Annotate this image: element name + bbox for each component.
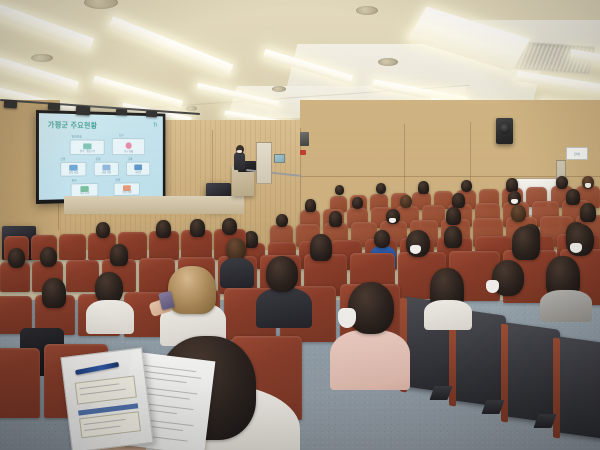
- attendee-head: [348, 282, 394, 334]
- slide-group-label: 일반현황: [72, 134, 82, 138]
- attendee-head: [244, 231, 258, 248]
- auditorium-seat[interactable]: [0, 348, 40, 418]
- lecture-hall-photo: 안내 가평군 주요현황 Ti 일반현황 인구 산업 관광 교통 복지 환경 면적…: [0, 0, 600, 450]
- slide-card: 지역 산업: [60, 162, 86, 177]
- slide-card-icon: [126, 142, 132, 149]
- slide-card: 관광 자원: [94, 162, 119, 177]
- attendee-head: [511, 205, 526, 222]
- wall-seam: [300, 176, 600, 177]
- sprinkler-icon: [186, 106, 197, 111]
- seat-edge-trim: [553, 338, 560, 439]
- attendee-head: [446, 207, 461, 225]
- slide-group-label: 환경: [115, 178, 120, 182]
- slide-card-label: 인구 현황: [113, 149, 144, 153]
- slide-card-label: 복지 시설: [72, 191, 98, 195]
- attendee-head: [329, 211, 342, 227]
- fire-box: [300, 132, 309, 146]
- face-mask: [511, 199, 518, 204]
- ceiling-light: [93, 75, 184, 108]
- attendee-head: [452, 193, 465, 208]
- door-window: [274, 154, 285, 163]
- presenter-body: [234, 152, 245, 170]
- attendee-head: [96, 222, 110, 238]
- attendee-head: [305, 199, 316, 212]
- slide-card-label: 환경 현황: [115, 190, 140, 194]
- attendee-head: [222, 218, 237, 235]
- ceiling-light: [0, 0, 94, 51]
- attendee-head: [40, 247, 57, 267]
- face-mask: [389, 218, 396, 223]
- attendee-head: [110, 244, 128, 266]
- face-mask: [338, 308, 356, 328]
- attendee-head: [276, 214, 288, 227]
- slide-card-label: 교통망: [127, 170, 149, 174]
- attendee-shoulders: [330, 330, 410, 390]
- slide-group-label: 인구: [119, 133, 124, 137]
- attendee-head: [266, 256, 298, 292]
- slide-card-label: 면적 · 행정구역: [71, 149, 104, 153]
- auditorium-seat-back[interactable]: [504, 322, 560, 424]
- wall-sign-label: 안내: [574, 152, 580, 156]
- ceiling-light: [108, 16, 233, 76]
- projection-screen-surface: 가평군 주요현황 Ti 일반현황 인구 산업 관광 교통 복지 환경 면적 · …: [39, 113, 163, 200]
- attendee-shoulders: [220, 258, 254, 288]
- attendee-head: [352, 197, 363, 209]
- attendee-head: [400, 195, 412, 208]
- attendee-head: [374, 230, 390, 248]
- sprinkler-icon: [378, 58, 398, 66]
- sprinkler-icon: [356, 6, 378, 15]
- sprinkler-icon: [84, 0, 118, 9]
- track-light: [4, 100, 18, 109]
- slide-card: 환경 현황: [114, 182, 140, 196]
- sprinkler-icon: [272, 86, 286, 92]
- emergency-indicator: [300, 150, 306, 155]
- seat-edge-trim: [501, 324, 508, 423]
- attendee-head: [444, 226, 462, 248]
- presenter-mask: [237, 150, 242, 153]
- attendee-head: [461, 180, 472, 192]
- attendee-head: [556, 176, 568, 189]
- slide-group-label: 관광: [96, 157, 101, 161]
- attendee-head: [42, 278, 66, 308]
- attendee-head: [335, 185, 344, 195]
- slide-card: 인구 현황: [112, 138, 145, 155]
- attendee-head: [580, 203, 596, 222]
- projection-screen: 가평군 주요현황 Ti 일반현황 인구 산업 관광 교통 복지 환경 면적 · …: [36, 110, 165, 204]
- attendee-head: [506, 178, 518, 192]
- side-door[interactable]: [256, 142, 272, 184]
- slide-logo: Ti: [153, 123, 157, 129]
- auditorium-seat-back[interactable]: [556, 336, 600, 440]
- attendee-head: [310, 234, 332, 261]
- attendee-head: [8, 248, 25, 268]
- slide-title: 가평군 주요현황: [48, 119, 98, 131]
- sprinkler-icon: [31, 54, 53, 62]
- face-mask: [585, 183, 591, 188]
- slide-card: 면적 · 행정구역: [70, 139, 105, 155]
- attendee-head: [190, 219, 205, 237]
- slide-card-label: 관광 자원: [95, 170, 118, 174]
- attendee-shoulders: [86, 300, 134, 334]
- track-light: [116, 109, 127, 116]
- wall-speaker: [496, 118, 513, 144]
- attendee-shoulders: [424, 300, 472, 330]
- document-sleeve[interactable]: [60, 347, 153, 450]
- attendee-head: [418, 181, 429, 194]
- attendee-shoulders: [256, 288, 312, 328]
- track-light: [48, 103, 60, 111]
- slide-group-label: 복지: [72, 178, 77, 182]
- attendee-shoulders: [540, 290, 592, 322]
- slide-group-label: 교통: [128, 157, 133, 161]
- stage-platform: [64, 196, 244, 214]
- wall-sign[interactable]: 안내: [566, 147, 588, 160]
- slide-group-label: 산업: [60, 157, 65, 161]
- face-mask: [486, 280, 499, 293]
- attendee-head: [566, 189, 580, 205]
- slide-card: 복지 시설: [71, 183, 99, 197]
- attendee-head: [376, 183, 386, 194]
- form-field: [79, 411, 141, 438]
- track-light: [146, 111, 157, 118]
- attendee-head: [156, 220, 171, 238]
- face-mask: [410, 245, 421, 254]
- blue-pen: [75, 362, 119, 375]
- face-mask: [570, 243, 582, 253]
- track-light: [76, 106, 91, 116]
- attendee-head: [168, 266, 216, 314]
- attendee-head: [512, 226, 540, 260]
- slide-card-label: 지역 산업: [61, 171, 85, 175]
- auditorium-seat[interactable]: [59, 234, 86, 260]
- slide-card: 교통망: [126, 162, 150, 176]
